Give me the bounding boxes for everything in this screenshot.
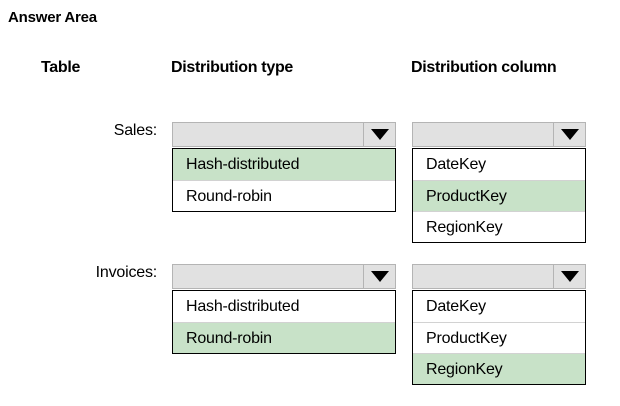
dropdown-option[interactable]: Hash-distributed xyxy=(173,291,395,322)
row-label-sales: Sales: xyxy=(37,122,157,140)
chevron-down-glyph xyxy=(561,271,579,282)
column-header-table: Table xyxy=(41,59,80,77)
dropdown-option[interactable]: ProductKey xyxy=(413,180,585,211)
dropdown-selected-value[interactable] xyxy=(413,265,553,288)
page-title: Answer Area xyxy=(8,9,97,26)
dropdown-option[interactable]: Round-robin xyxy=(173,322,395,353)
dropdown-option[interactable]: ProductKey xyxy=(413,322,585,353)
chevron-down-glyph xyxy=(371,271,389,282)
dropdown-header[interactable] xyxy=(412,264,586,289)
dropdown-option[interactable]: DateKey xyxy=(413,149,585,180)
chevron-down-icon[interactable] xyxy=(553,123,585,146)
column-header-distribution-type: Distribution type xyxy=(171,59,293,77)
dropdown-header[interactable] xyxy=(412,122,586,147)
dropdown-invoices-distribution-type[interactable]: Hash-distributed Round-robin xyxy=(172,264,396,354)
dropdown-option-list[interactable]: DateKey ProductKey RegionKey xyxy=(412,290,586,385)
chevron-down-icon[interactable] xyxy=(363,123,395,146)
dropdown-option-list[interactable]: Hash-distributed Round-robin xyxy=(172,290,396,354)
row-label-invoices: Invoices: xyxy=(37,264,157,282)
chevron-down-glyph xyxy=(561,129,579,140)
chevron-down-icon[interactable] xyxy=(553,265,585,288)
dropdown-selected-value[interactable] xyxy=(173,265,363,288)
dropdown-header[interactable] xyxy=(172,122,396,147)
dropdown-selected-value[interactable] xyxy=(413,123,553,146)
dropdown-option-list[interactable]: Hash-distributed Round-robin xyxy=(172,148,396,212)
dropdown-sales-distribution-type[interactable]: Hash-distributed Round-robin xyxy=(172,122,396,212)
column-header-distribution-column: Distribution column xyxy=(411,59,556,77)
dropdown-header[interactable] xyxy=(172,264,396,289)
chevron-down-icon[interactable] xyxy=(363,265,395,288)
dropdown-option[interactable]: DateKey xyxy=(413,291,585,322)
chevron-down-glyph xyxy=(371,129,389,140)
dropdown-option-list[interactable]: DateKey ProductKey RegionKey xyxy=(412,148,586,243)
dropdown-sales-distribution-column[interactable]: DateKey ProductKey RegionKey xyxy=(412,122,586,243)
dropdown-option[interactable]: Hash-distributed xyxy=(173,149,395,180)
dropdown-invoices-distribution-column[interactable]: DateKey ProductKey RegionKey xyxy=(412,264,586,385)
dropdown-option[interactable]: RegionKey xyxy=(413,211,585,242)
dropdown-option[interactable]: Round-robin xyxy=(173,180,395,211)
dropdown-selected-value[interactable] xyxy=(173,123,363,146)
dropdown-option[interactable]: RegionKey xyxy=(413,353,585,384)
